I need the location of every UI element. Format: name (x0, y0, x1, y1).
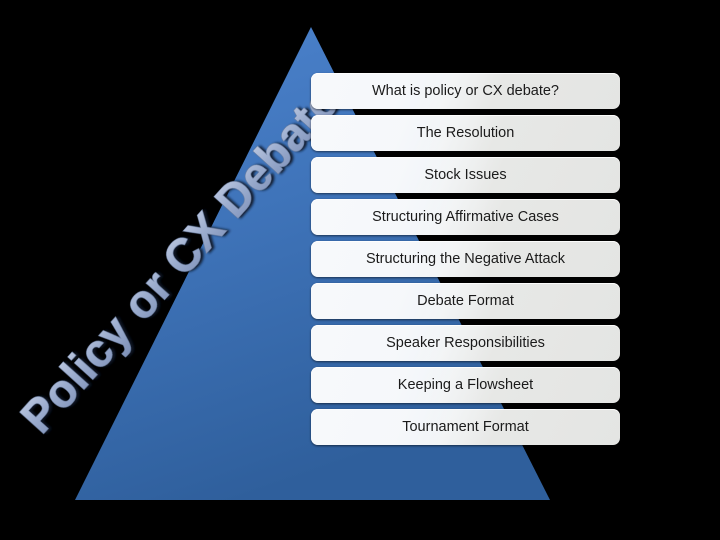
list-item-label: The Resolution (417, 126, 515, 141)
list-item-label: Tournament Format (402, 420, 529, 435)
pyramid-row-list: What is policy or CX debate? The Resolut… (311, 73, 620, 451)
list-item[interactable]: Debate Format (311, 283, 620, 319)
list-item-label: Structuring Affirmative Cases (372, 210, 559, 225)
list-item-label: Keeping a Flowsheet (398, 378, 533, 393)
list-item[interactable]: What is policy or CX debate? (311, 73, 620, 109)
list-item-label: Stock Issues (424, 168, 506, 183)
list-item[interactable]: Stock Issues (311, 157, 620, 193)
list-item[interactable]: The Resolution (311, 115, 620, 151)
list-item[interactable]: Structuring the Negative Attack (311, 241, 620, 277)
slide-title: Policy or CX Debate (11, 76, 349, 443)
list-item[interactable]: Keeping a Flowsheet (311, 367, 620, 403)
list-item-label: Debate Format (417, 294, 514, 309)
list-item[interactable]: Speaker Responsibilities (311, 325, 620, 361)
list-item[interactable]: Tournament Format (311, 409, 620, 445)
list-item[interactable]: Structuring Affirmative Cases (311, 199, 620, 235)
list-item-label: What is policy or CX debate? (372, 84, 559, 99)
slide-canvas: Policy or CX Debate What is policy or CX… (0, 0, 720, 540)
list-item-label: Speaker Responsibilities (386, 336, 545, 351)
list-item-label: Structuring the Negative Attack (366, 252, 565, 267)
